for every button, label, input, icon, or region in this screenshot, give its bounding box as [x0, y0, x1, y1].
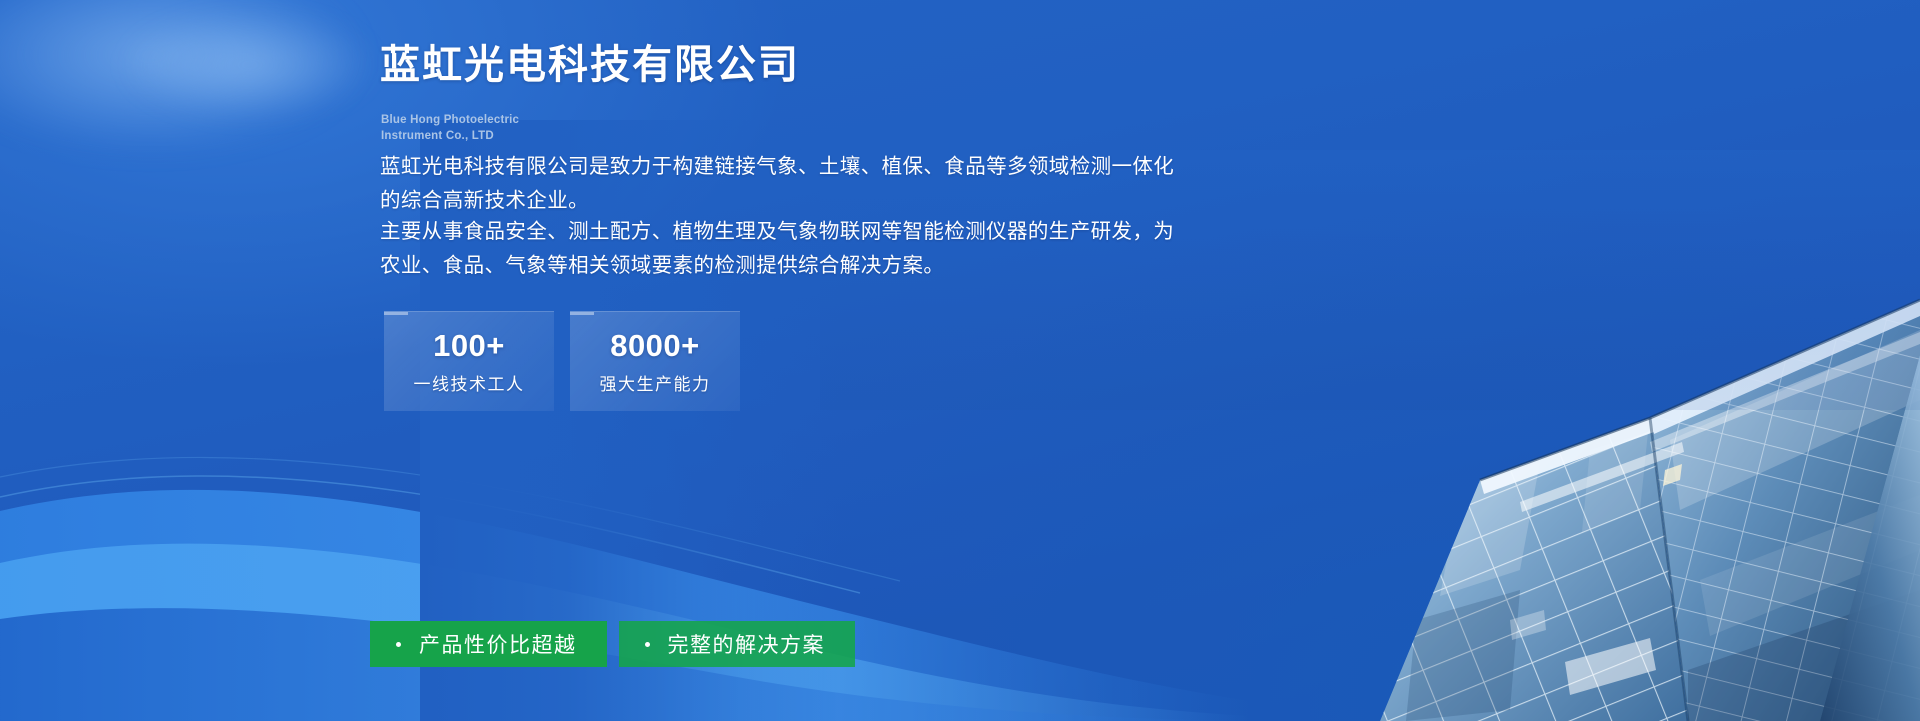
hero-content: 蓝虹光电科技有限公司 Blue Hong Photoelectric Instr…	[0, 0, 1920, 721]
stat-value: 100+	[433, 328, 505, 364]
feature-bar[interactable]: 完整的解决方案	[619, 621, 856, 667]
feature-bar-label: 产品性价比超越	[419, 629, 577, 659]
company-subtitle-line-1: Blue Hong Photoelectric	[381, 113, 519, 129]
stat-label: 一线技术工人	[414, 370, 525, 395]
stat-label: 强大生产能力	[600, 370, 711, 395]
bullet-dot-icon	[645, 642, 650, 647]
stat-card: 100+ 一线技术工人	[384, 311, 554, 411]
hero-banner: 蓝虹光电科技有限公司 Blue Hong Photoelectric Instr…	[0, 0, 1920, 721]
stat-card: 8000+ 强大生产能力	[570, 311, 740, 411]
bullet-dot-icon	[396, 642, 401, 647]
feature-bar-label: 完整的解决方案	[668, 629, 826, 659]
company-subtitle-english: Blue Hong Photoelectric Instrument Co., …	[381, 113, 519, 144]
feature-bar[interactable]: 产品性价比超越	[370, 621, 607, 667]
company-subtitle-line-2: Instrument Co., LTD	[381, 129, 519, 145]
feature-bar-group: 产品性价比超越 完整的解决方案	[370, 621, 855, 667]
stat-card-group: 100+ 一线技术工人 8000+ 强大生产能力	[384, 311, 740, 411]
company-title: 蓝虹光电科技有限公司	[380, 40, 800, 90]
stat-value: 8000+	[610, 328, 700, 364]
description-paragraph-1: 蓝虹光电科技有限公司是致力于构建链接气象、土壤、植保、食品等多领域检测一体化的综…	[380, 150, 1186, 218]
description-paragraph-2: 主要从事食品安全、测土配方、植物生理及气象物联网等智能检测仪器的生产研发，为农业…	[380, 215, 1186, 283]
